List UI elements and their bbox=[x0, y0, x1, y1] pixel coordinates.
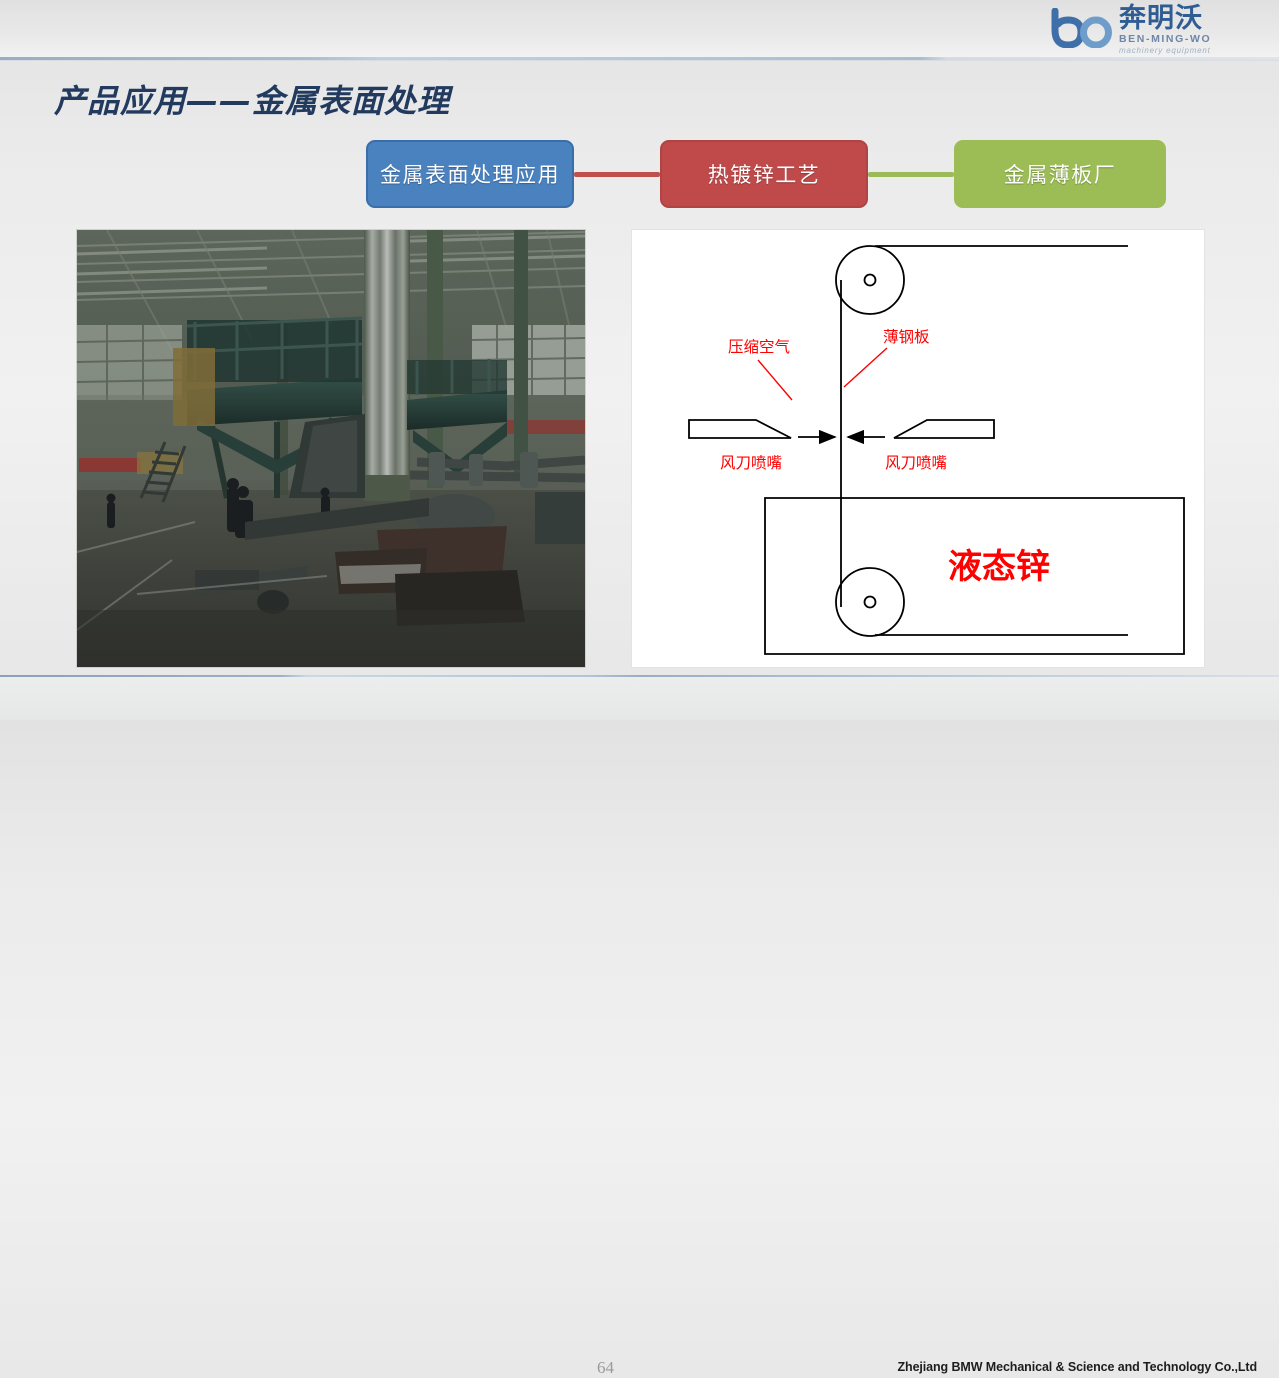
label-liquid-zinc: 液态锌 bbox=[948, 547, 1050, 587]
label-air-knife-left: 风刀喷嘴 bbox=[720, 454, 782, 472]
galvanizing-schematic: 压缩空气 薄钢板 风刀喷嘴 风刀喷嘴 液态锌 bbox=[631, 229, 1205, 668]
logo-chinese-name: 奔明沃 bbox=[1119, 5, 1211, 32]
label-air-knife-right: 风刀喷嘴 bbox=[885, 454, 947, 472]
flow-connector-1 bbox=[574, 172, 660, 177]
company-logo: 奔明沃 BEN-MING-WO machinery equipment bbox=[1051, 4, 1265, 56]
logo-tagline: machinery equipment bbox=[1119, 47, 1211, 55]
galvanizing-schematic-svg: 压缩空气 薄钢板 风刀喷嘴 风刀喷嘴 液态锌 bbox=[632, 230, 1204, 667]
label-steel-strip: 薄钢板 bbox=[883, 328, 930, 346]
logo-text-block: 奔明沃 BEN-MING-WO machinery equipment bbox=[1119, 5, 1211, 55]
flow-box-sheet-metal-plant[interactable]: 金属薄板厂 bbox=[954, 140, 1166, 208]
label-compressed-air: 压缩空气 bbox=[728, 338, 790, 356]
flow-box-metal-surface-treatment[interactable]: 金属表面处理应用 bbox=[366, 140, 574, 208]
process-flow-row: 金属表面处理应用 热镀锌工艺 金属薄板厂 bbox=[366, 139, 1166, 209]
bo-monogram-icon bbox=[1051, 8, 1113, 53]
flow-box-hot-dip-galvanizing[interactable]: 热镀锌工艺 bbox=[660, 140, 868, 208]
header-divider-secondary bbox=[0, 60, 1279, 61]
page-number: 64 bbox=[597, 1358, 614, 1378]
footer-bar: 64 Zhejiang BMW Mechanical & Science and… bbox=[0, 677, 1279, 720]
flow-connector-2 bbox=[868, 172, 954, 177]
company-name: Zhejiang BMW Mechanical & Science and Te… bbox=[898, 1360, 1258, 1374]
factory-photo-image bbox=[77, 230, 585, 667]
factory-photo bbox=[76, 229, 586, 668]
page-title: 产品应用——金属表面处理 bbox=[54, 76, 450, 122]
logo-english-name: BEN-MING-WO bbox=[1119, 34, 1211, 45]
